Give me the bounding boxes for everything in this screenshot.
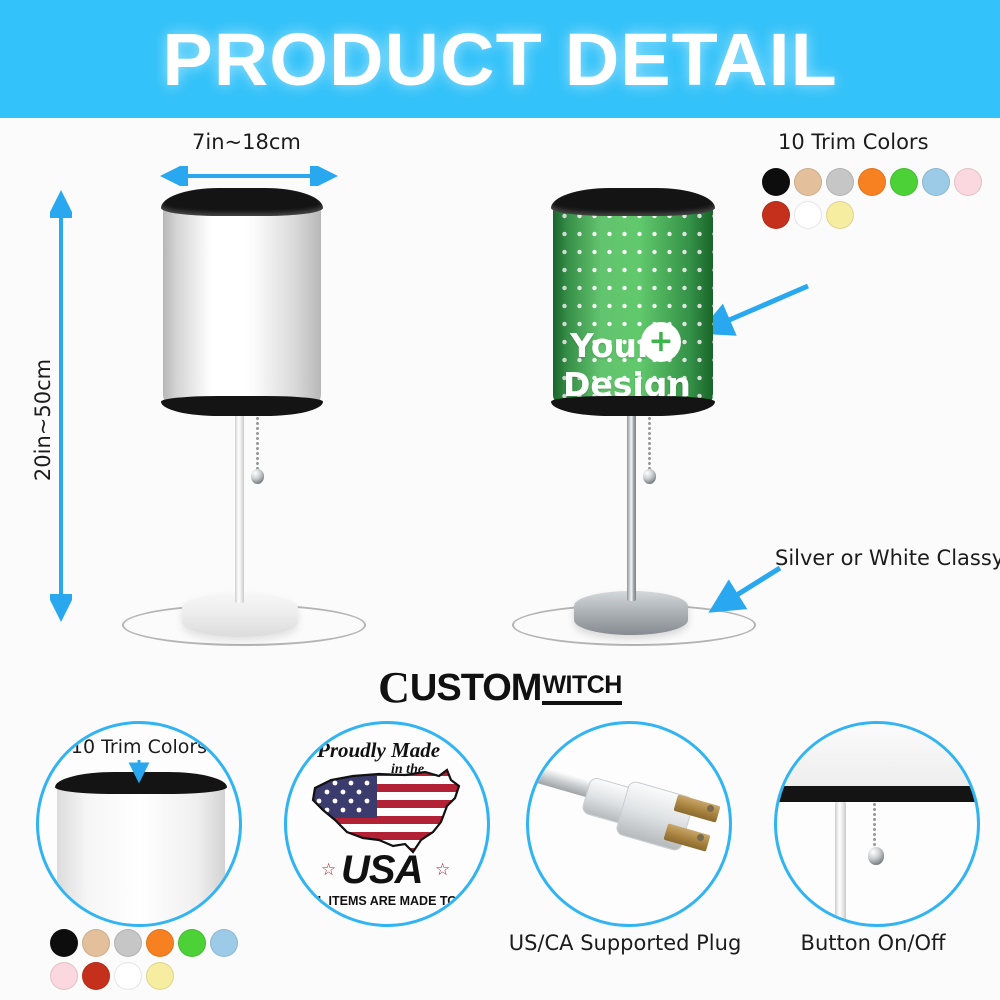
shade-trim-top-green	[551, 188, 715, 216]
product-detail-page: PRODUCT DETAIL 10 Trim Colors	[0, 0, 1000, 1000]
button-pole	[835, 802, 846, 924]
panel-swatch-green[interactable]	[178, 929, 206, 957]
swatch-green[interactable]	[890, 168, 918, 196]
shade-surface-green: Your + Design	[553, 202, 713, 404]
panel-usa-circle: Proudly Made in the	[284, 721, 490, 927]
brand-logo: C USTOM WITCH	[0, 663, 1000, 713]
usa-star-right: ☆	[435, 860, 450, 880]
add-design-badge[interactable]: +	[641, 322, 681, 362]
panel-swatch-white[interactable]	[114, 962, 142, 990]
base-finish-label: Silver or White Classy	[775, 546, 1000, 570]
panel-trim-colors-label: 10 Trim Colors	[39, 736, 239, 758]
usa-script-line1: Proudly Made	[317, 738, 440, 763]
swatch-gray[interactable]	[826, 168, 854, 196]
plug-prong-bottom-hole	[697, 834, 704, 841]
lamp-shade-white	[163, 188, 321, 418]
panel-made-in-usa: Proudly Made in the	[258, 713, 508, 1000]
pull-chain-green[interactable]	[648, 416, 651, 472]
plug-prong-top-hole	[707, 805, 714, 812]
button-trim-bar	[777, 786, 977, 802]
panel-plug-caption: US/CA Supported Plug	[500, 931, 750, 955]
lamp-shade-green: Your + Design	[553, 188, 713, 418]
swatch-orange[interactable]	[858, 168, 886, 196]
panel-trim-colors: 10 Trim Colors	[10, 713, 260, 1000]
panel-swatch-yellow[interactable]	[146, 962, 174, 990]
panel-swatch-gray[interactable]	[114, 929, 142, 957]
swatch-tan[interactable]	[794, 168, 822, 196]
panel-trim-colors-swatches	[50, 929, 260, 995]
shade-trim-bottom-green	[551, 396, 715, 416]
panel-plug-circle	[526, 721, 732, 927]
pull-chain-ball-green[interactable]	[643, 469, 656, 484]
swatch-light-blue[interactable]	[922, 168, 950, 196]
lamp-pole-silver	[627, 413, 636, 601]
shade-trim-top-white	[161, 188, 323, 216]
pull-chain-white[interactable]	[256, 416, 259, 472]
width-dimension-label: 7in~18cm	[192, 130, 301, 154]
base-finish-arrow	[700, 558, 790, 628]
usa-word: USA	[341, 848, 422, 893]
page-title: PRODUCT DETAIL	[162, 17, 837, 102]
main-showcase: 10 Trim Colors 7in~18cm	[0, 118, 1000, 663]
feature-panels: 10 Trim Colors	[0, 713, 1000, 1000]
lamp-pole-white	[235, 413, 244, 603]
panel-swatch-light-blue[interactable]	[210, 929, 238, 957]
panel-swatch-orange[interactable]	[146, 929, 174, 957]
width-dimension-arrow	[158, 166, 340, 186]
panel-swatch-red[interactable]	[82, 962, 110, 990]
panel-swatch-tan[interactable]	[82, 929, 110, 957]
brand-logo-c-icon: C	[378, 666, 410, 710]
swatch-black[interactable]	[762, 168, 790, 196]
trim-shade-surface	[57, 780, 225, 927]
pull-chain-ball-white[interactable]	[251, 469, 264, 484]
panel-button-circle	[774, 721, 980, 927]
usa-star-left: ☆	[321, 860, 336, 880]
brand-name-main: USTOM	[410, 667, 542, 710]
swatch-pink[interactable]	[954, 168, 982, 196]
swatch-yellow[interactable]	[826, 201, 854, 229]
header-banner: PRODUCT DETAIL	[0, 0, 1000, 118]
brand-name-sub: WITCH	[542, 671, 621, 705]
panel-swatch-pink[interactable]	[50, 962, 78, 990]
button-pull-chain[interactable]	[873, 802, 876, 850]
panel-trim-arrow	[127, 758, 151, 786]
swatch-red[interactable]	[762, 201, 790, 229]
swatch-white[interactable]	[794, 201, 822, 229]
panel-button-caption: Button On/Off	[748, 931, 998, 955]
shade-surface-white	[163, 202, 321, 404]
trim-colors-top-label: 10 Trim Colors	[778, 130, 929, 154]
height-dimension-arrow	[50, 188, 72, 628]
usa-tagline: ALL ITEMS ARE MADE TO ORDER!	[301, 894, 490, 908]
shade-trim-bottom-white	[161, 396, 323, 416]
panel-button: Button On/Off	[748, 713, 998, 1000]
button-shade-surface	[777, 724, 977, 792]
trim-colors-top-swatches	[762, 168, 1000, 234]
panel-swatch-black[interactable]	[50, 929, 78, 957]
panel-trim-colors-circle: 10 Trim Colors	[36, 721, 242, 927]
shade-gloss-white	[163, 202, 321, 404]
panel-plug: US/CA Supported Plug	[500, 713, 750, 1000]
button-pull-chain-ball[interactable]	[868, 847, 884, 865]
